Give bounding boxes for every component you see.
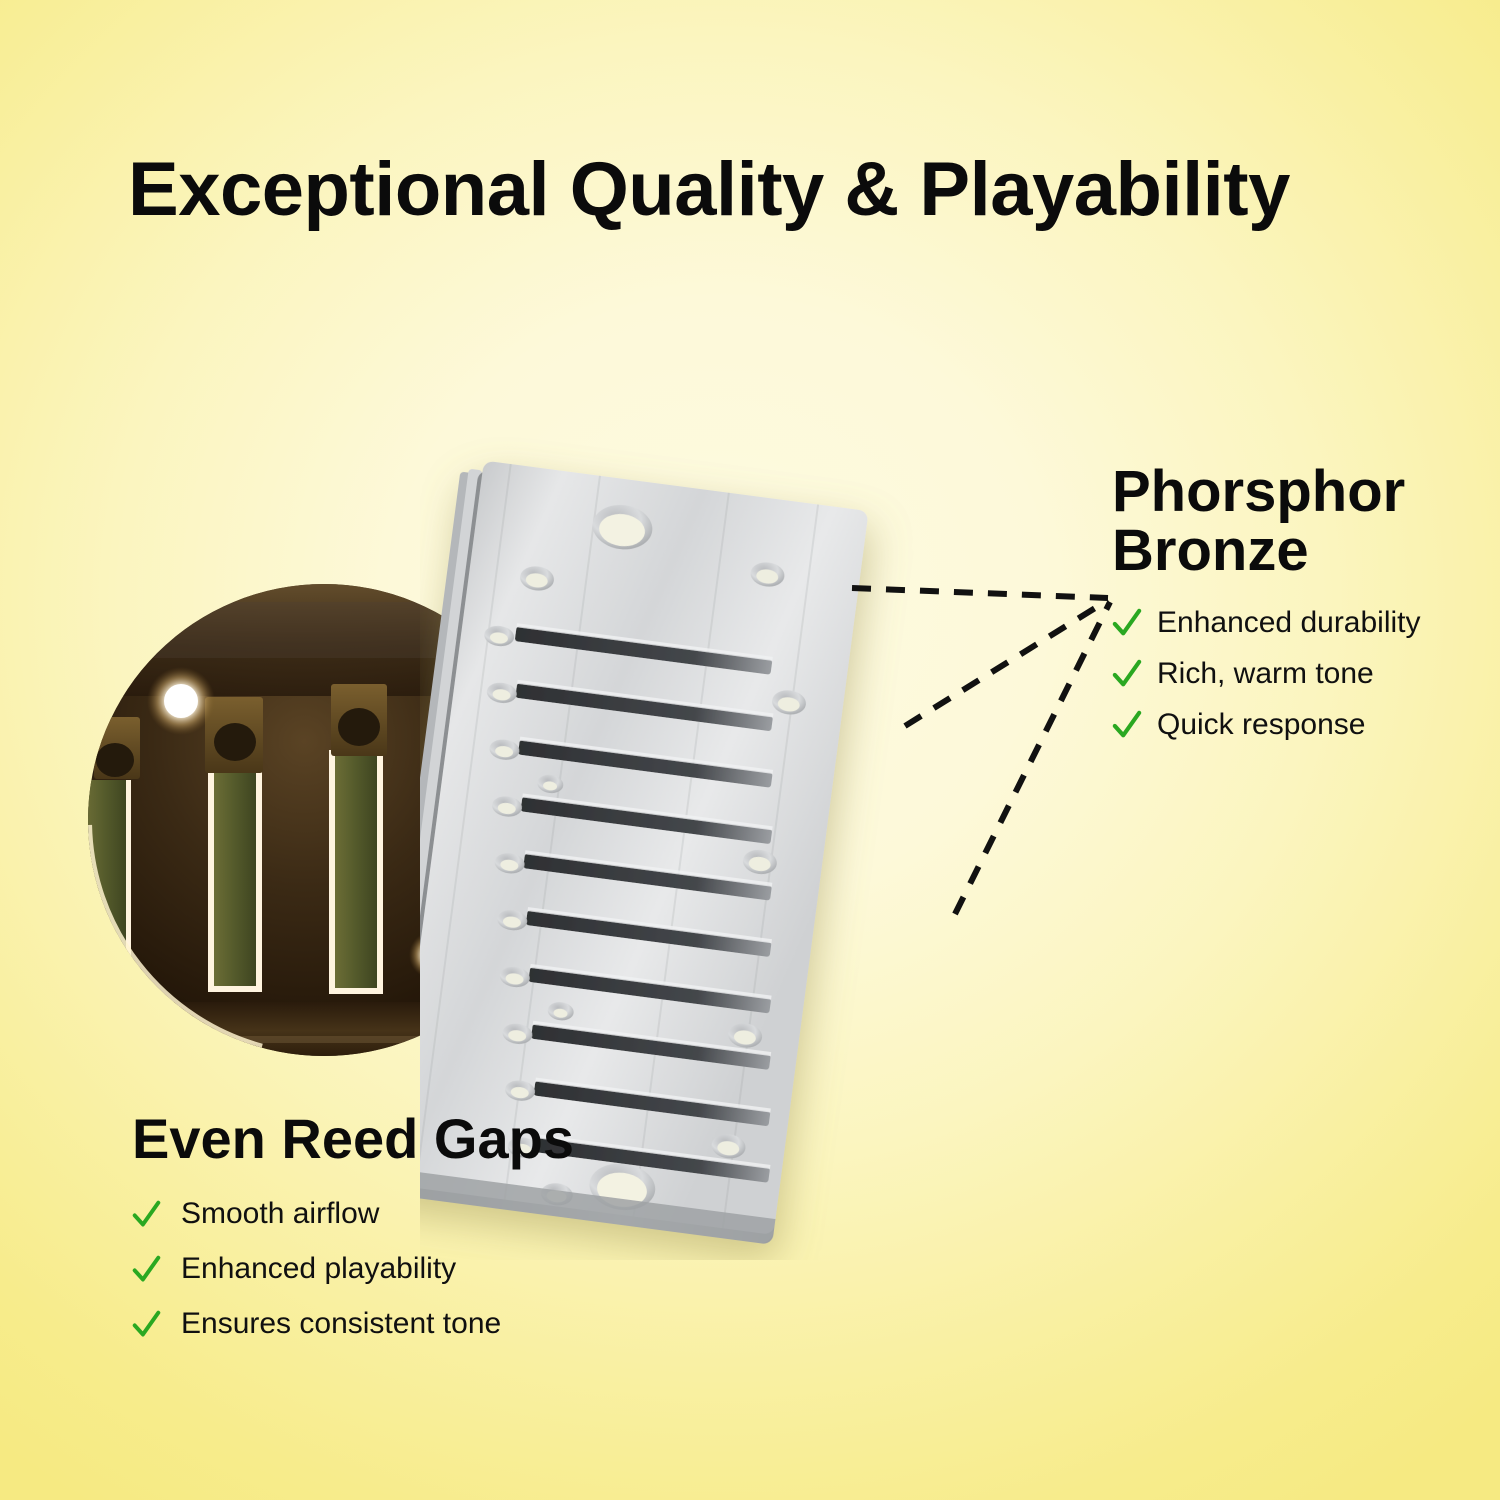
bullet-label: Rich, warm tone <box>1157 657 1374 691</box>
page-title: Exceptional Quality & Playability <box>128 152 1290 228</box>
closeup-reed-slot <box>329 750 383 994</box>
bullet-item: Enhanced durability <box>1112 606 1492 640</box>
closeup-rivet <box>331 684 387 756</box>
bronze-heading: Phorsphor Bronze <box>1112 462 1492 580</box>
check-icon <box>132 1255 161 1284</box>
bullet-label: Smooth airflow <box>181 1197 379 1231</box>
bullet-item: Ensures consistent tone <box>132 1307 652 1341</box>
bullet-item: Rich, warm tone <box>1112 657 1492 691</box>
reed-gaps-heading: Even Reed Gaps <box>132 1110 652 1167</box>
check-icon <box>132 1310 161 1339</box>
bullet-label: Ensures consistent tone <box>181 1307 501 1341</box>
check-icon <box>1112 710 1142 740</box>
bullet-label: Enhanced durability <box>1157 606 1421 640</box>
closeup-specular-core <box>164 684 198 718</box>
bullet-label: Enhanced playability <box>181 1252 456 1286</box>
closeup-rivet <box>94 717 140 779</box>
bullet-item: Enhanced playability <box>132 1252 652 1286</box>
bullet-label: Quick response <box>1157 708 1365 742</box>
check-icon <box>132 1200 161 1229</box>
closeup-reed-slot <box>88 780 131 984</box>
infographic-canvas: Exceptional Quality & Playability <box>0 0 1500 1500</box>
bullet-item: Smooth airflow <box>132 1197 652 1231</box>
reed-gaps-bullet-list: Smooth airflow Enhanced playability Ensu… <box>132 1197 652 1341</box>
check-icon <box>1112 608 1142 638</box>
closeup-reed-slot <box>208 760 262 992</box>
reed-gaps-callout-block: Even Reed Gaps Smooth airflow Enhanced p… <box>132 1110 652 1362</box>
bullet-item: Quick response <box>1112 708 1492 742</box>
bronze-bullet-list: Enhanced durability Rich, warm tone Quic… <box>1112 606 1492 742</box>
check-icon <box>1112 659 1142 689</box>
bronze-callout-block: Phorsphor Bronze Enhanced durability Ric… <box>1112 462 1492 759</box>
